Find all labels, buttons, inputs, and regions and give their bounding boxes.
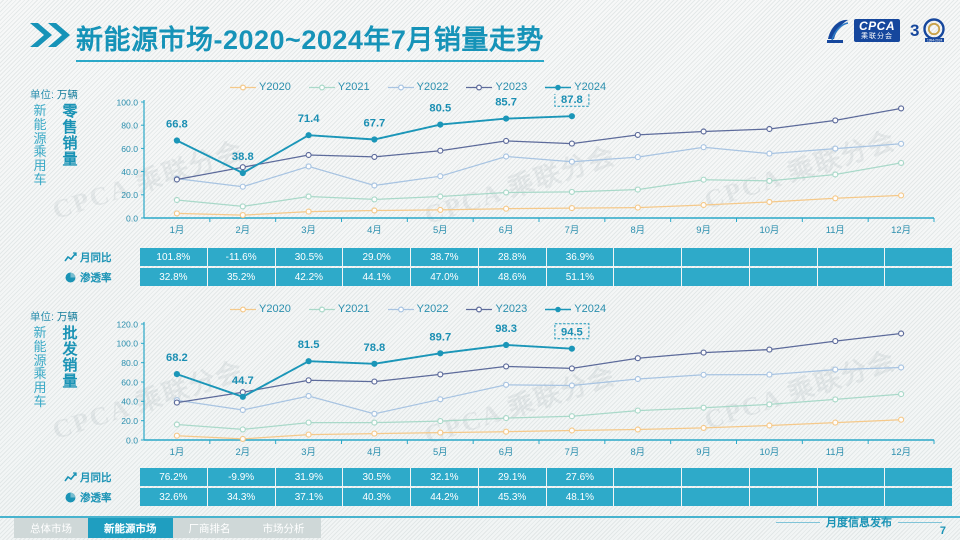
row-label-yoy: 月同比 [80, 250, 112, 265]
y-axis-tick-label: 0.0 [126, 435, 138, 445]
legend-label-y2021: Y2021 [338, 303, 370, 315]
data-point-y2021 [306, 194, 311, 199]
x-axis-tick-label: 10月 [760, 446, 780, 457]
x-axis-tick-label: 3月 [301, 224, 316, 235]
legend-swatch-y2022 [388, 83, 414, 92]
x-axis-tick-label: 1月 [170, 446, 185, 457]
table-cell [818, 468, 886, 486]
bottom-nav-tab-3[interactable]: 市场分析 [247, 518, 321, 538]
data-label-y2024: 44.7 [232, 375, 254, 387]
legend-swatch-y2023 [466, 305, 492, 314]
x-axis-tick-label: 9月 [696, 446, 711, 457]
unit-value: 万辆 [57, 89, 78, 101]
data-point-y2024 [174, 371, 180, 377]
table-cell: 101.8% [140, 248, 208, 266]
table-cell [750, 468, 818, 486]
data-point-y2020 [767, 423, 772, 428]
data-point-y2021 [767, 178, 772, 183]
data-point-y2020 [174, 211, 179, 216]
data-point-y2024 [240, 394, 246, 400]
data-point-y2022 [438, 174, 443, 179]
data-point-y2021 [240, 427, 245, 432]
table-cell: 29.0% [343, 248, 411, 266]
page-header: 新能源市场-2020~2024年7月销量走势 CPCA 乘联分会 3 1994-… [0, 0, 960, 66]
table-cell: 48.6% [479, 268, 547, 286]
cpca-brand-cn: 乘联分会 [859, 33, 895, 40]
data-point-y2021 [372, 197, 377, 202]
data-point-y2023 [569, 141, 574, 146]
table-cell [885, 248, 952, 266]
legend-swatch-y2021 [309, 305, 335, 314]
data-point-y2020 [504, 429, 509, 434]
category-label-retail: 新能源乘用车 [30, 104, 50, 187]
row-cells: 32.6%34.3%37.1%40.3%44.2%45.3%48.1% [140, 488, 952, 506]
table-row: 渗透率 32.8%35.2%42.2%44.1%47.0%48.6%51.1% [62, 268, 952, 286]
data-point-y2021 [240, 204, 245, 209]
data-point-y2022 [306, 164, 311, 169]
y-axis-tick-label: 100.0 [116, 97, 138, 107]
table-cell: 40.3% [343, 488, 411, 506]
data-point-y2020 [899, 417, 904, 422]
data-point-y2023 [372, 154, 377, 159]
data-point-y2020 [240, 213, 245, 218]
data-label-y2024: 80.5 [429, 103, 451, 115]
data-point-y2020 [833, 196, 838, 201]
legend-label-y2023: Y2023 [495, 303, 527, 315]
bottom-nav: 总体市场新能源市场厂商排名市场分析 [14, 518, 321, 538]
data-point-y2021 [635, 408, 640, 413]
data-label-y2024: 78.8 [364, 342, 386, 354]
y-axis-tick-label: 60.0 [121, 377, 138, 387]
metric-label-wholesale: 批发销量 [60, 326, 80, 390]
data-point-y2021 [306, 420, 311, 425]
row-header-yoy: 月同比 [62, 248, 140, 266]
data-point-y2022 [569, 383, 574, 388]
data-point-y2023 [899, 331, 904, 336]
data-label-y2024: 71.4 [298, 113, 321, 125]
table-cell: 34.3% [208, 488, 276, 506]
row-header-penetration: 渗透率 [62, 268, 140, 286]
unit-label: 单位: 万辆 [30, 309, 78, 324]
table-cell: 51.1% [547, 268, 615, 286]
data-point-y2020 [767, 200, 772, 205]
table-cell: 35.2% [208, 268, 276, 286]
data-point-y2020 [899, 193, 904, 198]
data-point-y2022 [306, 394, 311, 399]
data-point-y2020 [701, 425, 706, 430]
data-point-y2023 [174, 177, 179, 182]
data-point-y2024 [306, 358, 312, 364]
data-label-y2024: 87.8 [561, 94, 583, 106]
data-point-y2024 [503, 116, 509, 122]
data-point-y2021 [438, 419, 443, 424]
data-point-y2021 [504, 190, 509, 195]
legend-label-y2022: Y2022 [417, 303, 449, 315]
legend-swatch-y2024 [545, 305, 571, 314]
data-point-y2024 [437, 122, 443, 128]
chart-plot-wholesale: 0.020.040.060.080.0100.0120.01月2月3月4月5月6… [100, 316, 940, 448]
table-cell [682, 248, 750, 266]
table-cell: 45.3% [479, 488, 547, 506]
row-header-yoy: 月同比 [62, 468, 140, 486]
data-point-y2020 [635, 205, 640, 210]
x-axis-tick-label: 5月 [433, 224, 448, 235]
category-label-wholesale: 新能源乘用车 [30, 326, 50, 409]
data-table-retail: 月同比 101.8%-11.6%30.5%29.0%38.7%28.8%36.9… [62, 248, 952, 288]
x-axis-tick-label: 1月 [170, 224, 185, 235]
data-point-y2023 [504, 364, 509, 369]
table-cell: 28.8% [479, 248, 547, 266]
legend-label-y2020: Y2020 [259, 81, 291, 93]
data-label-y2024: 38.8 [232, 151, 254, 163]
data-point-y2022 [635, 155, 640, 160]
data-point-y2021 [767, 402, 772, 407]
data-point-y2023 [899, 106, 904, 111]
x-axis-tick-label: 3月 [301, 446, 316, 457]
data-point-y2022 [701, 372, 706, 377]
legend-swatch-y2021 [309, 83, 335, 92]
data-point-y2024 [240, 170, 246, 176]
x-axis-tick-label: 9月 [696, 224, 711, 235]
legend-label-y2024: Y2024 [574, 303, 606, 315]
data-point-y2021 [438, 194, 443, 199]
series-line-y2020 [177, 420, 901, 439]
y-axis-tick-label: 80.0 [121, 358, 138, 368]
y-axis-tick-label: 40.0 [121, 167, 138, 177]
data-point-y2023 [569, 366, 574, 371]
data-point-y2022 [504, 382, 509, 387]
table-cell [614, 268, 682, 286]
data-point-y2020 [240, 436, 245, 441]
footer-rule-right [898, 522, 942, 523]
double-chevron-right-icon [28, 21, 72, 49]
data-point-y2023 [767, 127, 772, 132]
data-point-y2023 [306, 378, 311, 383]
row-cells: 76.2%-9.9%31.9%30.5%32.1%29.1%27.6% [140, 468, 952, 486]
y-axis-tick-label: 60.0 [121, 144, 138, 154]
table-cell [750, 268, 818, 286]
cpca-logo: CPCA 乘联分会 [825, 17, 900, 43]
data-point-y2020 [306, 209, 311, 214]
table-cell [614, 468, 682, 486]
data-point-y2023 [833, 118, 838, 123]
data-point-y2022 [899, 141, 904, 146]
table-cell: 47.0% [411, 268, 479, 286]
data-point-y2024 [371, 361, 377, 367]
series-line-y2023 [177, 108, 901, 179]
series-line-y2023 [177, 334, 901, 403]
data-point-y2023 [240, 165, 245, 170]
table-cell: 44.1% [343, 268, 411, 286]
table-cell: 76.2% [140, 468, 208, 486]
table-cell: -11.6% [208, 248, 276, 266]
data-point-y2020 [306, 432, 311, 437]
line-chart-icon [64, 472, 77, 483]
data-point-y2020 [174, 433, 179, 438]
row-cells: 101.8%-11.6%30.5%29.0%38.7%28.8%36.9% [140, 248, 952, 266]
x-axis-tick-label: 6月 [499, 446, 514, 457]
data-point-y2023 [833, 339, 838, 344]
x-axis-tick-label: 8月 [630, 224, 645, 235]
table-cell: 29.1% [479, 468, 547, 486]
x-axis-tick-label: 4月 [367, 446, 382, 457]
cpca-swoosh-icon [825, 17, 851, 43]
table-cell: 48.1% [547, 488, 615, 506]
table-row: 月同比 101.8%-11.6%30.5%29.0%38.7%28.8%36.9… [62, 248, 952, 266]
svg-text:3: 3 [910, 21, 919, 40]
data-point-y2022 [767, 151, 772, 156]
data-point-y2021 [833, 172, 838, 177]
table-cell: 31.9% [276, 468, 344, 486]
x-axis-tick-label: 11月 [826, 224, 845, 235]
data-point-y2022 [438, 397, 443, 402]
table-cell: 36.9% [547, 248, 615, 266]
bottom-nav-tab-0[interactable]: 总体市场 [14, 518, 88, 538]
logo-group: CPCA 乘联分会 3 1994-2024 [825, 16, 948, 44]
page-title: 新能源市场-2020~2024年7月销量走势 [76, 18, 544, 62]
data-point-y2023 [372, 379, 377, 384]
data-point-y2024 [174, 137, 180, 143]
table-cell [818, 268, 886, 286]
data-table-wholesale: 月同比 76.2%-9.9%31.9%30.5%32.1%29.1%27.6% … [62, 468, 952, 508]
data-point-y2022 [833, 146, 838, 151]
data-point-y2024 [503, 342, 509, 348]
data-label-y2024: 98.3 [495, 323, 517, 335]
y-axis-tick-label: 20.0 [121, 190, 138, 200]
table-cell: 27.6% [547, 468, 615, 486]
data-label-y2024: 94.5 [561, 327, 583, 339]
footer-branding: 月度信息发布 [776, 514, 942, 530]
data-label-y2024: 89.7 [429, 331, 451, 343]
data-label-y2024: 67.7 [364, 118, 386, 130]
table-cell [682, 488, 750, 506]
data-point-y2020 [701, 203, 706, 208]
data-point-y2022 [372, 183, 377, 188]
legend-swatch-y2020 [230, 83, 256, 92]
data-point-y2022 [899, 365, 904, 370]
x-axis-tick-label: 12月 [891, 224, 911, 235]
data-point-y2023 [767, 347, 772, 352]
x-axis-tick-label: 4月 [367, 224, 382, 235]
table-cell [750, 488, 818, 506]
anniversary-badge-icon: 3 1994-2024 [908, 16, 948, 44]
data-point-y2023 [635, 132, 640, 137]
data-label-y2024: 68.2 [166, 352, 188, 364]
table-cell [750, 248, 818, 266]
unit-value: 万辆 [57, 311, 78, 323]
cpca-name-box: CPCA 乘联分会 [854, 19, 900, 42]
legend-item-y2021[interactable]: Y2021 [309, 81, 370, 93]
table-cell [885, 468, 952, 486]
table-cell: 38.7% [411, 248, 479, 266]
legend-label-y2020: Y2020 [259, 303, 291, 315]
data-point-y2023 [174, 400, 179, 405]
legend-swatch-y2023 [466, 83, 492, 92]
footer-rule-left [776, 522, 820, 523]
table-cell: 30.5% [343, 468, 411, 486]
unit-prefix: 单位: [30, 89, 54, 101]
bottom-nav-tab-2[interactable]: 厂商排名 [173, 518, 247, 538]
table-cell [885, 268, 952, 286]
legend-item-y2022[interactable]: Y2022 [388, 303, 449, 315]
data-point-y2021 [504, 416, 509, 421]
x-axis-tick-label: 7月 [565, 224, 580, 235]
row-cells: 32.8%35.2%42.2%44.1%47.0%48.6%51.1% [140, 268, 952, 286]
data-label-y2024: 66.8 [166, 119, 188, 131]
legend-item-y2020[interactable]: Y2020 [230, 303, 291, 315]
table-cell [818, 248, 886, 266]
chart-plot-retail: 0.020.040.060.080.0100.01月2月3月4月5月6月7月8月… [100, 94, 940, 226]
y-axis-tick-label: 120.0 [116, 319, 138, 329]
row-label-penetration: 渗透率 [80, 270, 112, 285]
data-point-y2023 [635, 356, 640, 361]
y-axis-tick-label: 0.0 [126, 213, 138, 223]
table-cell: 44.2% [411, 488, 479, 506]
data-point-y2021 [833, 397, 838, 402]
legend-item-y2022[interactable]: Y2022 [388, 81, 449, 93]
data-point-y2021 [174, 422, 179, 427]
legend-swatch-y2022 [388, 305, 414, 314]
data-point-y2023 [306, 153, 311, 158]
legend-item-y2024[interactable]: Y2024 [545, 303, 606, 315]
data-point-y2022 [504, 154, 509, 159]
row-label-yoy: 月同比 [80, 470, 112, 485]
table-cell [682, 468, 750, 486]
x-axis-tick-label: 2月 [235, 446, 250, 457]
data-point-y2022 [569, 159, 574, 164]
table-cell: 37.1% [276, 488, 344, 506]
legend-item-y2023[interactable]: Y2023 [466, 81, 527, 93]
table-cell [614, 488, 682, 506]
data-point-y2020 [569, 428, 574, 433]
data-point-y2020 [504, 206, 509, 211]
legend-label-y2023: Y2023 [495, 81, 527, 93]
legend-label-y2021: Y2021 [338, 81, 370, 93]
data-point-y2023 [701, 350, 706, 355]
data-point-y2023 [438, 148, 443, 153]
x-axis-tick-label: 10月 [760, 224, 780, 235]
data-point-y2024 [371, 136, 377, 142]
anniversary-years: 1994-2024 [927, 38, 942, 42]
bottom-nav-tab-1[interactable]: 新能源市场 [88, 518, 173, 538]
data-point-y2020 [372, 431, 377, 436]
x-axis-tick-label: 11月 [826, 446, 845, 457]
y-axis-tick-label: 20.0 [121, 416, 138, 426]
data-point-y2022 [833, 367, 838, 372]
table-cell [885, 488, 952, 506]
footer-text: 月度信息发布 [826, 514, 892, 530]
legend-label-y2024: Y2024 [574, 81, 606, 93]
legend-swatch-y2020 [230, 305, 256, 314]
data-point-y2020 [438, 207, 443, 212]
data-point-y2022 [240, 184, 245, 189]
data-point-y2024 [569, 113, 575, 119]
x-axis-tick-label: 7月 [565, 446, 580, 457]
cpca-brand-en: CPCA [859, 20, 895, 32]
data-point-y2022 [701, 145, 706, 150]
data-point-y2022 [240, 408, 245, 413]
data-point-y2023 [701, 129, 706, 134]
table-cell [614, 248, 682, 266]
data-point-y2021 [899, 392, 904, 397]
x-axis-tick-label: 6月 [499, 224, 514, 235]
data-point-y2024 [306, 132, 312, 138]
data-point-y2023 [438, 372, 443, 377]
legend-item-y2020[interactable]: Y2020 [230, 81, 291, 93]
x-axis-tick-label: 5月 [433, 446, 448, 457]
data-point-y2021 [899, 160, 904, 165]
series-line-y2022 [177, 144, 901, 187]
data-point-y2021 [372, 420, 377, 425]
table-cell: 32.6% [140, 488, 208, 506]
y-axis-tick-label: 100.0 [116, 339, 138, 349]
data-point-y2021 [635, 187, 640, 192]
data-point-y2024 [437, 350, 443, 356]
data-label-y2024: 85.7 [495, 97, 517, 109]
x-axis-tick-label: 8月 [630, 446, 645, 457]
unit-prefix: 单位: [30, 311, 54, 323]
pie-chart-icon [64, 492, 77, 503]
data-point-y2021 [569, 189, 574, 194]
data-point-y2020 [438, 430, 443, 435]
data-point-y2021 [701, 405, 706, 410]
data-point-y2020 [635, 427, 640, 432]
legend-item-y2024[interactable]: Y2024 [545, 81, 606, 93]
y-axis-tick-label: 80.0 [121, 121, 138, 131]
table-cell: 32.8% [140, 268, 208, 286]
data-point-y2020 [569, 206, 574, 211]
legend-label-y2022: Y2022 [417, 81, 449, 93]
table-cell: 32.1% [411, 468, 479, 486]
line-chart-icon [64, 252, 77, 263]
unit-label: 单位: 万辆 [30, 87, 78, 102]
page-number: 7 [940, 525, 946, 537]
table-row: 渗透率 32.6%34.3%37.1%40.3%44.2%45.3%48.1% [62, 488, 952, 506]
data-point-y2023 [504, 138, 509, 143]
table-cell: 30.5% [276, 248, 344, 266]
pie-chart-icon [64, 272, 77, 283]
row-label-penetration: 渗透率 [80, 490, 112, 505]
legend-item-y2021[interactable]: Y2021 [309, 303, 370, 315]
x-axis-tick-label: 12月 [891, 446, 911, 457]
data-point-y2021 [569, 414, 574, 419]
table-cell: -9.9% [208, 468, 276, 486]
x-axis-tick-label: 2月 [235, 224, 250, 235]
row-header-penetration: 渗透率 [62, 488, 140, 506]
table-cell [682, 268, 750, 286]
data-point-y2024 [569, 346, 575, 352]
data-point-y2022 [767, 372, 772, 377]
y-axis-tick-label: 40.0 [121, 397, 138, 407]
data-point-y2021 [701, 177, 706, 182]
data-label-y2024: 81.5 [298, 339, 320, 351]
data-point-y2020 [833, 420, 838, 425]
data-point-y2021 [174, 198, 179, 203]
legend-item-y2023[interactable]: Y2023 [466, 303, 527, 315]
table-row: 月同比 76.2%-9.9%31.9%30.5%32.1%29.1%27.6% [62, 468, 952, 486]
metric-label-retail: 零售销量 [60, 104, 80, 168]
table-cell: 42.2% [276, 268, 344, 286]
data-point-y2020 [372, 208, 377, 213]
series-line-y2020 [177, 195, 901, 215]
table-cell [818, 488, 886, 506]
series-line-y2021 [177, 163, 901, 207]
legend-swatch-y2024 [545, 83, 571, 92]
data-point-y2022 [372, 411, 377, 416]
data-point-y2022 [635, 377, 640, 382]
